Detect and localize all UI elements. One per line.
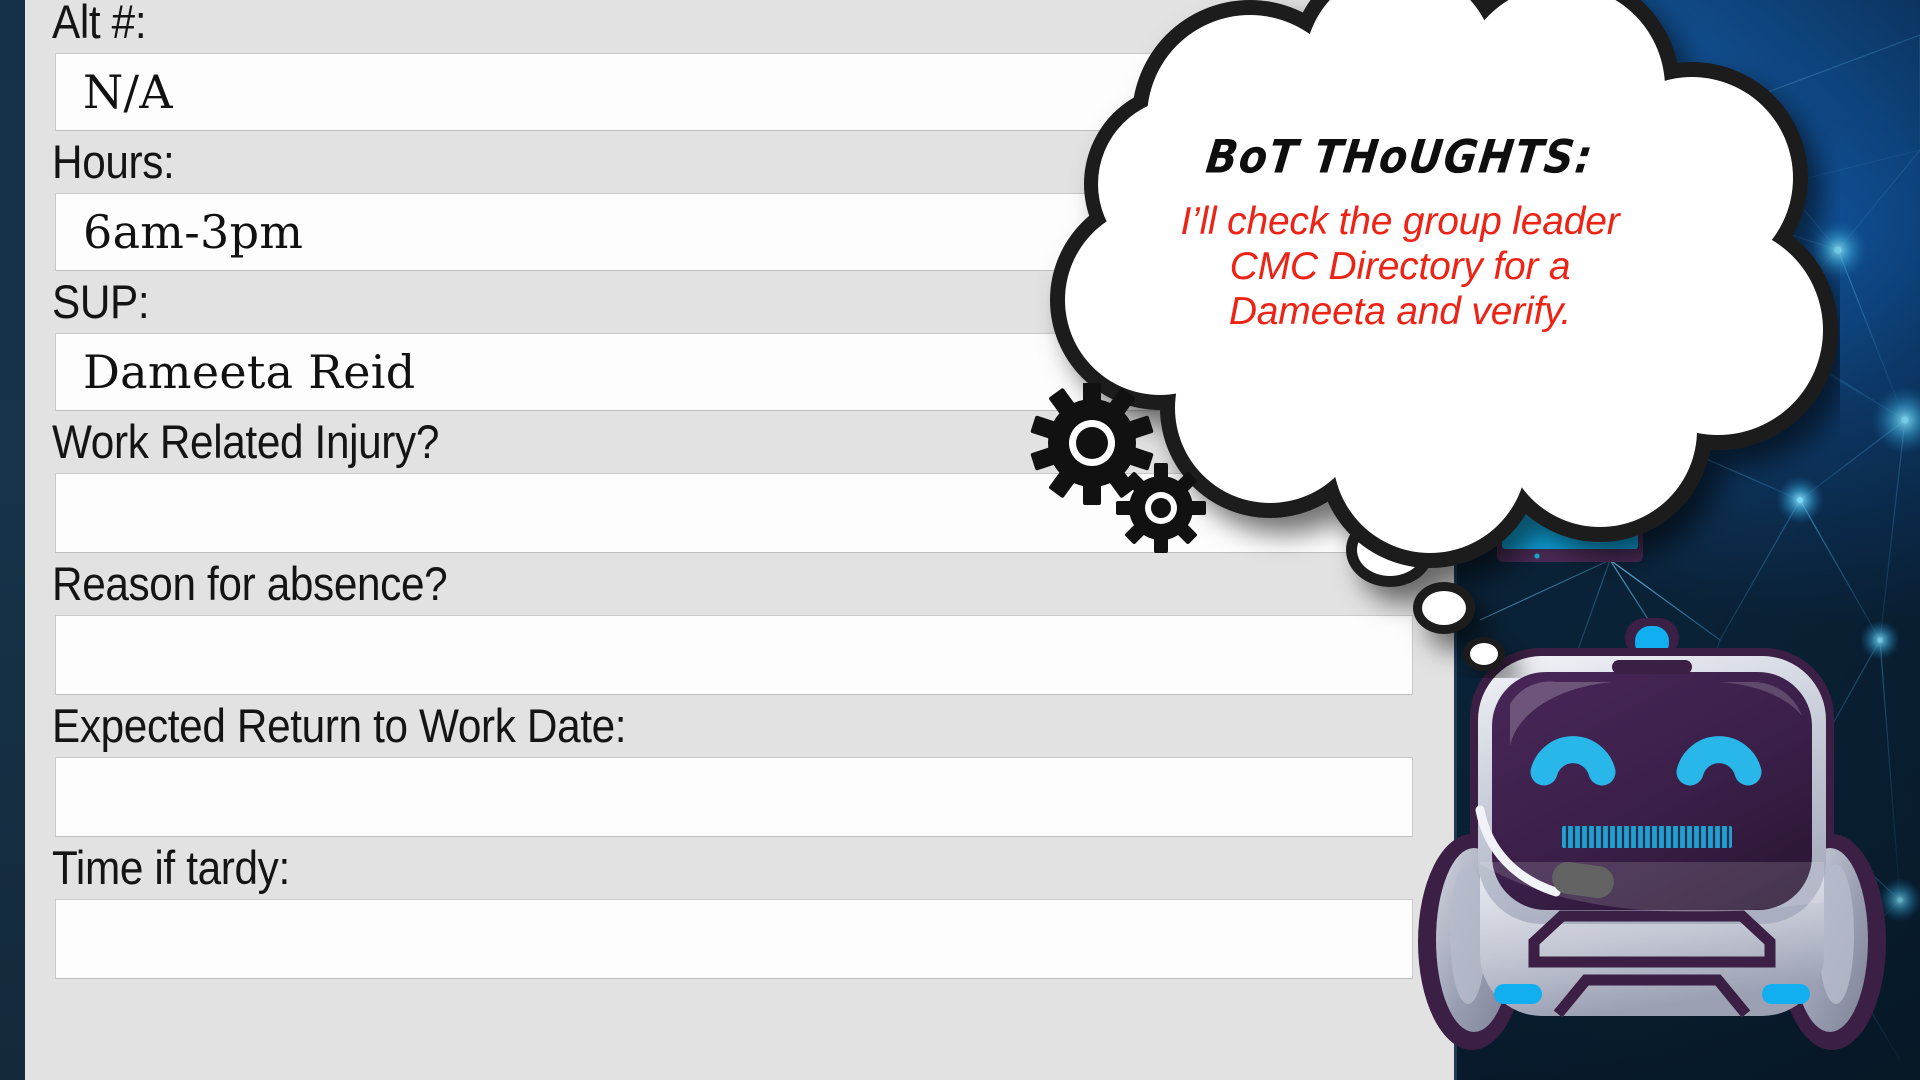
form-row-expected-return-date: Expected Return to Work Date: — [25, 702, 1457, 837]
form-row-time-if-tardy: Time if tardy: — [25, 844, 1457, 979]
value-alt-number: N/A — [56, 69, 173, 115]
assistant-robot-illustration — [1418, 612, 1886, 1080]
panel-left-edge — [0, 0, 25, 1080]
input-expected-return-date[interactable] — [55, 757, 1413, 837]
screenshot-root: STARTEL — [0, 0, 1920, 1080]
value-sup: Dameeta Reid — [56, 349, 416, 395]
bot-thought-bubble — [950, 0, 1840, 678]
input-time-if-tardy[interactable] — [55, 899, 1413, 979]
label-time-if-tardy: Time if tardy: — [25, 844, 1314, 891]
label-expected-return-date: Expected Return to Work Date: — [25, 702, 1314, 749]
value-hours: 6am-3pm — [56, 209, 303, 255]
gears-icon — [1020, 383, 1220, 568]
